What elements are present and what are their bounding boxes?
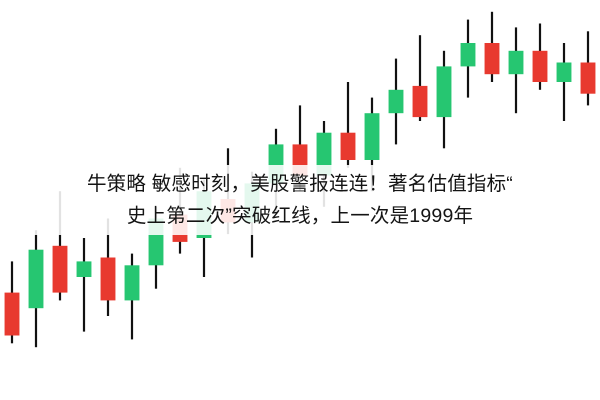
candle-body [461,43,476,66]
candle-body [485,43,500,74]
headline-overlay: 牛策略 敏感时刻，美股警报连连！著名估值指标“ 史上第二次”突破红线，上一次是1… [0,165,600,235]
candle-body [533,51,548,82]
candle-body [101,258,116,301]
candle-body [581,63,596,94]
candle-wick [83,238,85,332]
candle-body [437,66,452,117]
candle-body [125,265,140,300]
headline-line-2: 史上第二次”突破红线，上一次是1999年 [127,200,473,232]
screenshot-root: 牛策略 敏感时刻，美股警报连连！著名估值指标“ 史上第二次”突破红线，上一次是1… [0,0,600,400]
candle-body [557,63,572,83]
candle-body [413,86,428,117]
candle-body [509,51,524,74]
headline-line-1: 牛策略 敏感时刻，美股警报连连！著名估值指标“ [87,168,513,200]
candle-body [365,113,380,160]
candle-body [77,261,92,277]
candle-body [29,250,44,309]
candle-body [389,90,404,113]
candle-body [53,246,68,293]
candle-body [341,133,356,160]
candle-body [5,293,20,336]
